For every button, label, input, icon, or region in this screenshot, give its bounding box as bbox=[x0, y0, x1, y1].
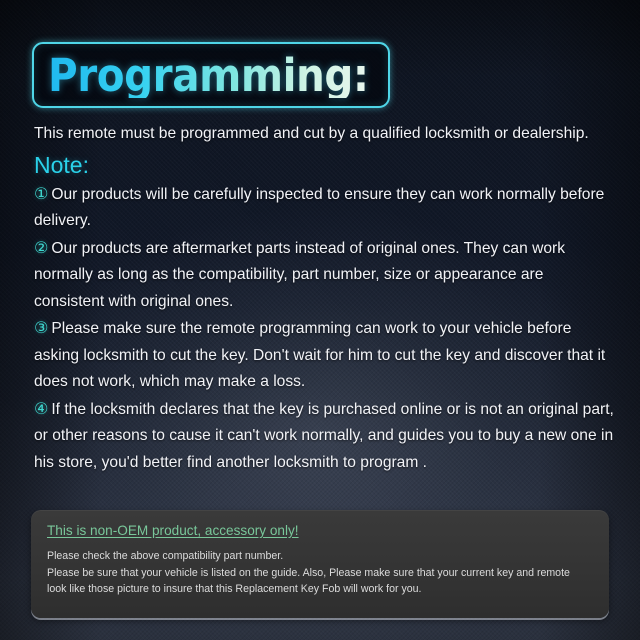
note-item-2-text: Our products are aftermarket parts inste… bbox=[34, 240, 565, 310]
circled-number-2-icon: ② bbox=[34, 238, 48, 257]
fine-print-line-3: look like those picture to insure that t… bbox=[47, 581, 593, 598]
note-item-2: ②Our products are aftermarket parts inst… bbox=[34, 235, 614, 316]
fine-print-line-2: Please be sure that your vehicle is list… bbox=[47, 565, 593, 582]
circled-number-4-icon: ④ bbox=[34, 399, 48, 418]
note-item-3: ③Please make sure the remote programming… bbox=[34, 315, 614, 396]
lead-paragraph: This remote must be programmed and cut b… bbox=[34, 121, 614, 148]
note-item-1-text: Our products will be carefully inspected… bbox=[34, 186, 604, 230]
product-info-graphic: Programming: This remote must be program… bbox=[0, 0, 640, 640]
note-item-1: ①Our products will be carefully inspecte… bbox=[34, 181, 614, 235]
fine-print-line-1: Please check the above compatibility par… bbox=[47, 548, 593, 565]
body-copy: This remote must be programmed and cut b… bbox=[34, 121, 614, 476]
oem-warning-row: This is non-OEM product, accessory only! bbox=[47, 522, 593, 548]
note-item-4-text: If the locksmith declares that the key i… bbox=[34, 401, 614, 471]
title-plate: Programming: bbox=[32, 42, 390, 108]
circled-number-1-icon: ① bbox=[34, 184, 48, 203]
disclaimer-panel: This is non-OEM product, accessory only!… bbox=[31, 510, 609, 618]
page-title: Programming: bbox=[48, 53, 369, 98]
note-heading: Note: bbox=[34, 150, 614, 180]
note-item-3-text: Please make sure the remote programming … bbox=[34, 320, 605, 390]
circled-number-3-icon: ③ bbox=[34, 318, 48, 337]
note-item-4: ④If the locksmith declares that the key … bbox=[34, 396, 614, 477]
oem-warning-text: This is non-OEM product, accessory only! bbox=[47, 522, 299, 540]
